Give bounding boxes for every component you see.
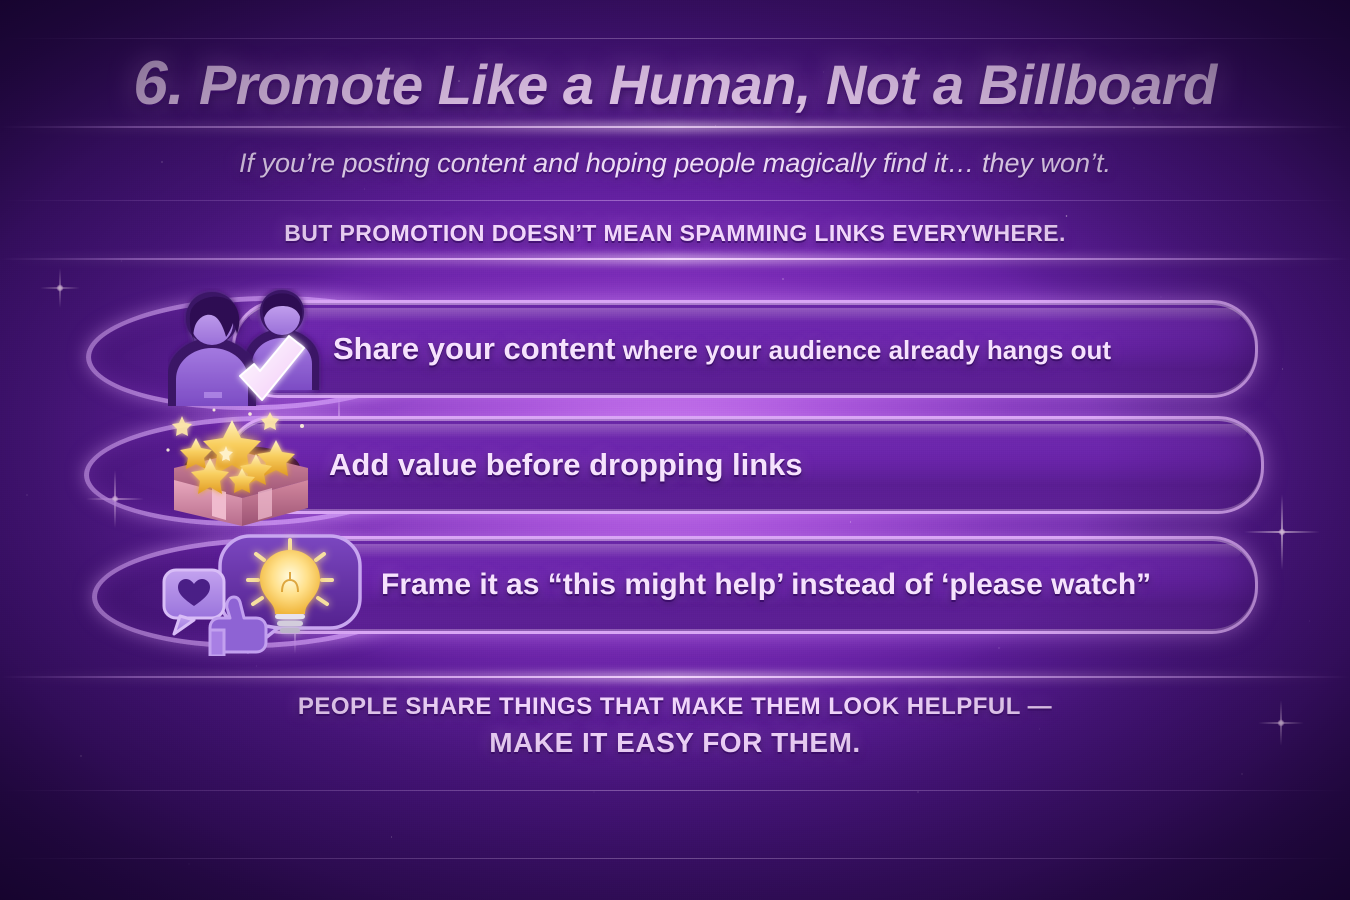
- bullet-text-1-lead: Share your content: [333, 331, 616, 366]
- divider-line: [0, 200, 1350, 201]
- bullet-text-3: Frame it as “this might help’ instead of…: [239, 568, 1151, 602]
- footer-line-1: PEOPLE SHARE THINGS THAT MAKE THEM LOOK …: [0, 693, 1350, 721]
- divider-line: [0, 258, 1350, 260]
- subtitle-line-1: If you’re posting content and hoping peo…: [0, 148, 1350, 179]
- page-title: 6. Promote Like a Human, Not a Billboard: [0, 48, 1350, 119]
- bullet-text-1-rest: where your audience already hangs out: [616, 335, 1112, 365]
- bullet-row-3: Frame it as “this might help’ instead of…: [0, 528, 1350, 640]
- divider-line: [0, 126, 1350, 128]
- title-text: Promote Like a Human, Not a Billboard: [199, 53, 1217, 116]
- bullet-pill-1[interactable]: Share your content where your audience a…: [232, 300, 1258, 398]
- bullet-pill-2[interactable]: Add value before dropping links: [226, 416, 1264, 514]
- divider-line: [0, 858, 1350, 859]
- bullet-text-1: Share your content where your audience a…: [235, 331, 1111, 367]
- title-number: 6.: [133, 49, 184, 118]
- bullet-pill-3[interactable]: Frame it as “this might help’ instead of…: [236, 536, 1258, 634]
- bullet-row-2: Add value before dropping links: [0, 408, 1350, 520]
- infographic-slide: 6. Promote Like a Human, Not a Billboard…: [0, 0, 1350, 900]
- divider-line: [0, 790, 1350, 791]
- subtitle-line-2: BUT PROMOTION DOESN’T MEAN SPAMMING LINK…: [0, 220, 1350, 247]
- bullet-row-1: Share your content where your audience a…: [0, 292, 1350, 404]
- bullet-text-2: Add value before dropping links: [229, 447, 803, 483]
- footer-line-2: MAKE IT EASY FOR THEM.: [0, 727, 1350, 759]
- divider-line: [0, 38, 1350, 39]
- divider-line: [0, 676, 1350, 678]
